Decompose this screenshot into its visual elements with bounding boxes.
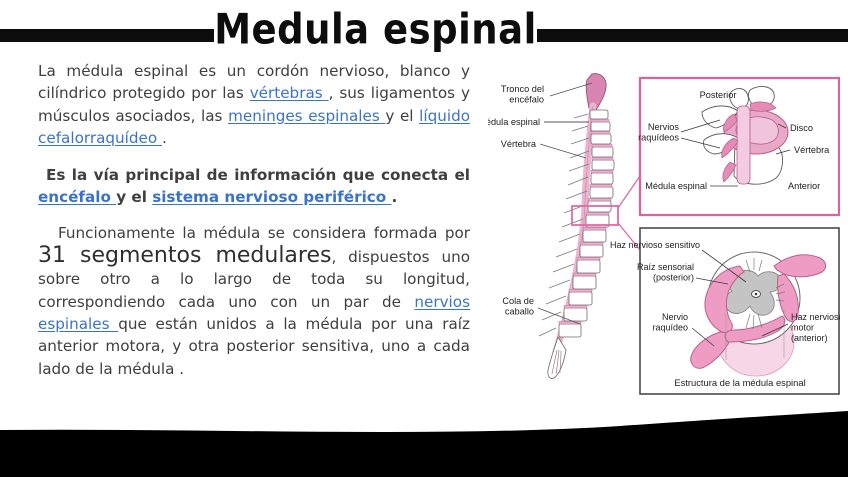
p1-text-4: .	[162, 129, 167, 147]
label-tronco-del-encefalo: Tronco delencéfalo	[501, 84, 544, 105]
link-meninges-espinales[interactable]: meninges espinales	[228, 107, 385, 125]
p3-text-1: Funcionamente la médula se considera for…	[58, 224, 470, 242]
paragraph-segments: Funcionamente la médula se considera for…	[38, 222, 470, 380]
inset-vertebra-disc: Posterior Nerviosraquídeos Disco Vértebr…	[638, 78, 839, 215]
link-encefalo[interactable]: encéfalo	[38, 188, 116, 206]
p1-text-3: y el	[385, 107, 419, 125]
caption-estructura-medula: Estructura de la médula espinal	[674, 377, 805, 388]
inset-cord-structure: Haz nervioso sensitivo Raíz sensorial(po…	[610, 228, 840, 394]
label-posterior: Posterior	[700, 90, 737, 100]
link-sistema-nervioso-periferico[interactable]: sistema nervioso periférico	[152, 188, 391, 206]
label-disco: Disco	[790, 123, 813, 133]
text-column: La médula espinal es un cordón nervioso,…	[38, 60, 470, 380]
title-rule-left	[0, 29, 214, 42]
paragraph-main-pathway: Es la vía principal de información que c…	[38, 164, 470, 209]
p2-text-2: .	[392, 188, 398, 206]
slide-canvas: Medula espinal La médula espinal es un c…	[0, 0, 848, 477]
label-vertebra-spine: Vértebra	[501, 139, 537, 149]
bottom-decoration-bar	[0, 400, 848, 477]
spinal-cord-figure: Tronco delencéfalo Médula espinal Vérteb…	[488, 70, 840, 400]
title-rule-right	[537, 29, 848, 42]
p2-text-1: Es la	[46, 166, 94, 184]
p2-bold-2: y el	[116, 188, 152, 206]
title-band: Medula espinal	[0, 0, 848, 58]
lateral-spine-illustration	[538, 74, 640, 379]
page-title: Medula espinal	[214, 0, 537, 61]
label-haz-nervioso-sensitivo: Haz nervioso sensitivo	[610, 240, 700, 250]
label-medula-espinal-inset: Médula espinal	[645, 181, 707, 191]
p2-bold-1: vía principal de información que conecta…	[94, 166, 470, 184]
label-cola-de-caballo: Cola decaballo	[502, 296, 534, 317]
paragraph-definition: La médula espinal es un cordón nervioso,…	[38, 60, 470, 150]
label-medula-espinal-spine: Médula espinal	[488, 117, 540, 127]
label-vertebra-inset: Vértebra	[794, 145, 830, 155]
link-vertebras[interactable]: vértebras	[250, 84, 329, 102]
emphasis-31-segmentos: 31 segmentos medulares	[38, 243, 331, 268]
label-anterior: Anterior	[788, 181, 820, 191]
